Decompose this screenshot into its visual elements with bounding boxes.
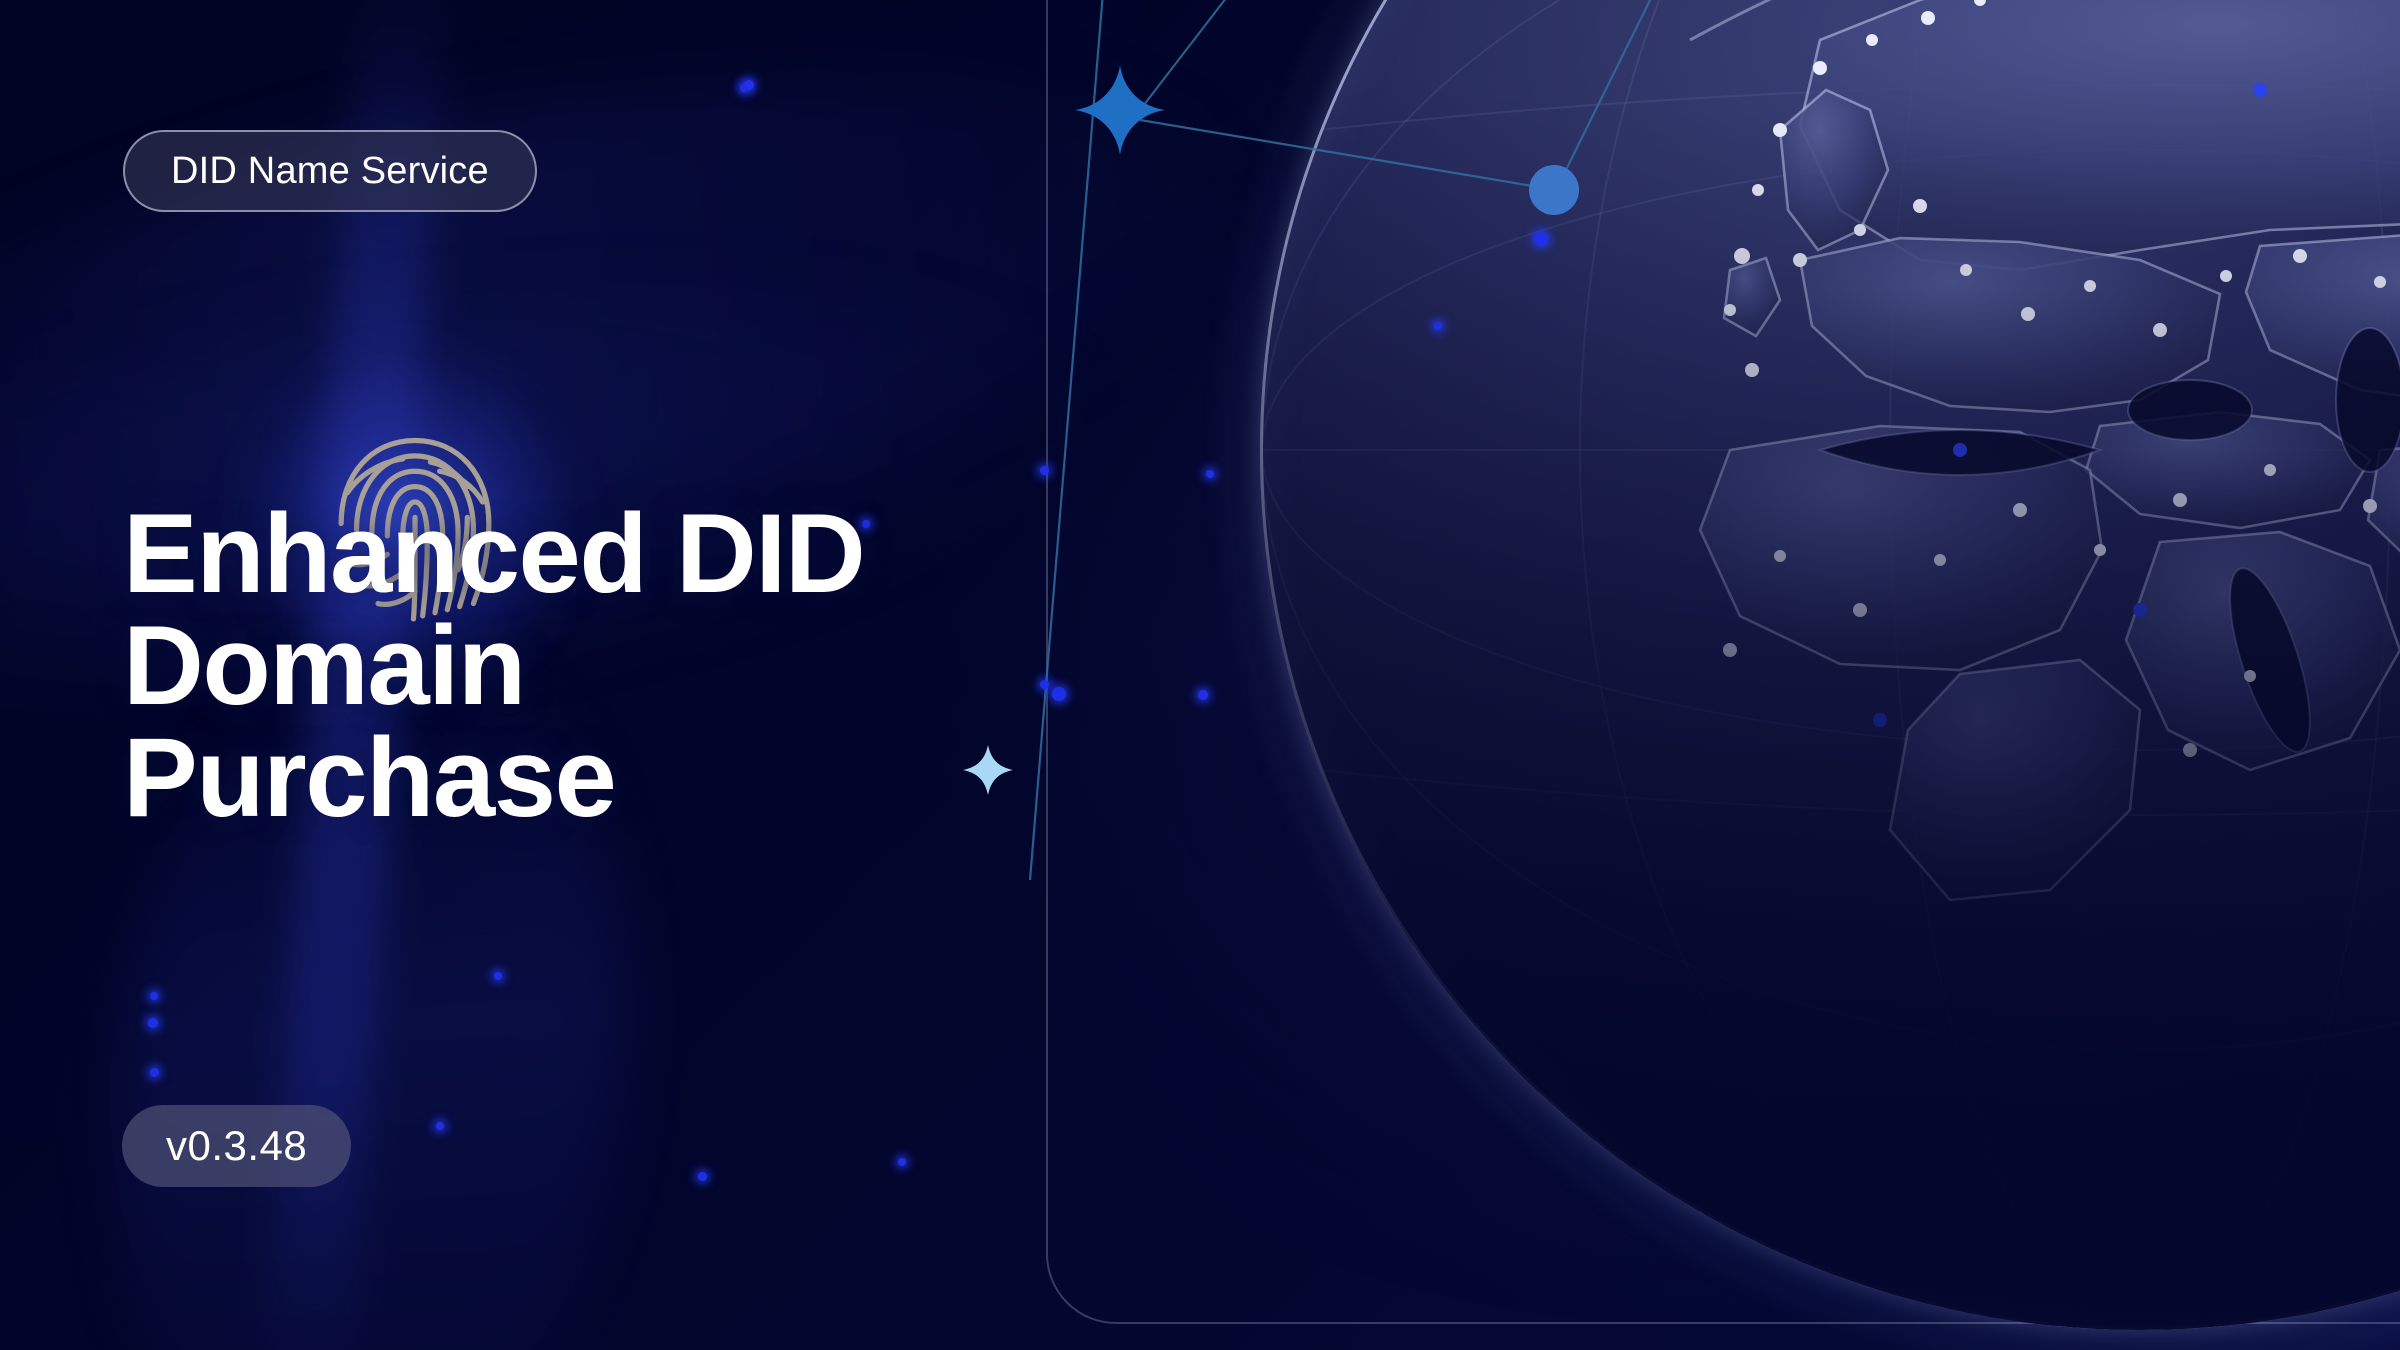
headline-line: Domain <box>123 610 864 722</box>
version-label: v0.3.48 <box>166 1122 307 1170</box>
page-title: Enhanced DID Domain Purchase <box>123 498 864 834</box>
service-tag-badge[interactable]: DID Name Service <box>123 130 537 212</box>
hero-content: DID Name Service <box>0 0 1100 1350</box>
network-node-icon <box>1529 165 1579 215</box>
service-tag-label: DID Name Service <box>171 150 489 193</box>
version-badge[interactable]: v0.3.48 <box>122 1105 351 1187</box>
headline-line: Enhanced DID <box>123 498 864 610</box>
hero-banner: DID Name Service <box>0 0 2400 1350</box>
headline-line: Purchase <box>123 722 864 834</box>
